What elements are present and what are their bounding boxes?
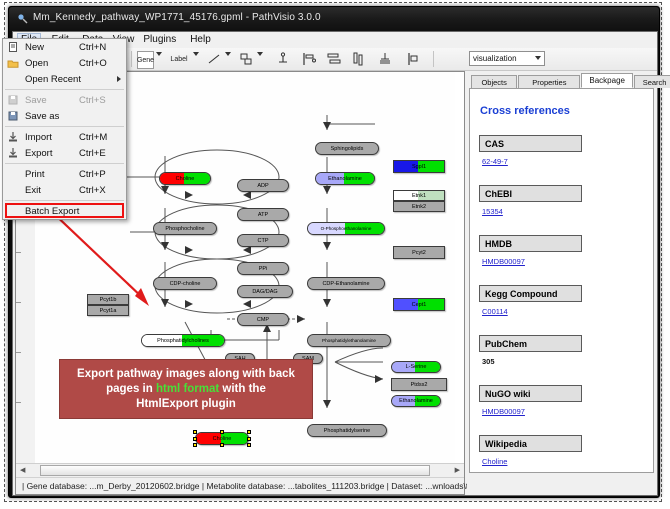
gene-tool-button[interactable]: Gene (137, 51, 154, 69)
file-menu-label: Print (25, 169, 45, 180)
visualization-value: visualization (473, 54, 517, 63)
group-icon[interactable] (405, 51, 421, 67)
side-panel-tabs: ObjectsPropertiesBackpageSearchLegend (467, 73, 657, 88)
scroll-right-icon[interactable]: ▶ (455, 466, 460, 474)
xref-value-kegg-compound[interactable]: C00114 (482, 307, 508, 316)
file-menu-item-export[interactable]: ExportCtrl+E (3, 145, 126, 161)
visualization-combobox[interactable]: visualization (469, 51, 545, 66)
file-menu-label: Open (25, 58, 48, 69)
file-menu-accelerator: Ctrl+S (79, 95, 106, 106)
export-icon (7, 147, 19, 159)
file-menu-item-exit[interactable]: ExitCtrl+X (3, 182, 126, 198)
file-menu-label: New (25, 42, 44, 53)
file-menu-label: Exit (25, 185, 41, 196)
file-menu-accelerator: Ctrl+P (79, 169, 106, 180)
annotation-highlight: html format (156, 383, 219, 395)
save-icon (7, 94, 19, 106)
menu-plugins[interactable]: Plugins (139, 34, 180, 46)
xref-value-chebi[interactable]: 15354 (482, 207, 503, 216)
xref-header-hmdb: HMDB (479, 235, 582, 252)
file-menu-item-save-as[interactable]: Save as (3, 108, 126, 124)
tab-objects[interactable]: Objects (471, 75, 517, 88)
file-menu-label: Export (25, 148, 52, 159)
file-menu-label: Save as (25, 111, 59, 122)
anchor-icon[interactable] (275, 51, 291, 67)
file-menu-accelerator: Ctrl+O (79, 58, 107, 69)
title-bar: Mm_Kennedy_pathway_WP1771_45176.gpml - P… (9, 7, 659, 31)
file-menu-accelerator: Ctrl+X (79, 185, 106, 196)
annotation-line2-after: with the (219, 383, 266, 395)
line-tool-icon[interactable] (206, 51, 222, 67)
file-menu-item-print[interactable]: PrintCtrl+P (3, 166, 126, 182)
annotation-line2-before: pages in (106, 383, 156, 395)
file-menu-accelerator: Ctrl+M (79, 132, 107, 143)
toolbar-separator (131, 51, 132, 67)
shape-tool-dropdown-icon[interactable] (257, 52, 263, 56)
shape-tool-icon[interactable] (238, 51, 254, 67)
stack-icon[interactable] (377, 51, 393, 67)
xref-header-nugo-wiki: NuGO wiki (479, 385, 582, 402)
xref-value-pubchem: 305 (482, 357, 495, 366)
window-title: Mm_Kennedy_pathway_WP1771_45176.gpml - P… (33, 12, 321, 23)
annotation-text: Export pathway images along with back pa… (71, 367, 301, 412)
align-vertical-icon[interactable] (351, 51, 367, 67)
tab-backpage[interactable]: Backpage (581, 73, 633, 88)
cross-references-heading: Cross references (480, 105, 570, 117)
xref-header-wikipedia: Wikipedia (479, 435, 582, 452)
import-icon (7, 131, 19, 143)
file-menu-dropdown[interactable]: NewCtrl+NOpenCtrl+OOpen RecentSaveCtrl+S… (2, 38, 127, 220)
file-menu-item-import[interactable]: ImportCtrl+M (3, 129, 126, 145)
xref-header-chebi: ChEBI (479, 185, 582, 202)
label-tool-dropdown-icon[interactable] (193, 52, 199, 56)
menu-separator (5, 200, 124, 201)
menu-separator (5, 163, 124, 164)
folder-open-icon (7, 57, 19, 69)
xref-value-nugo-wiki[interactable]: HMDB00097 (482, 407, 525, 416)
tab-search[interactable]: Search (634, 75, 670, 88)
new-file-icon (7, 41, 19, 53)
label-tool-button[interactable]: Label (168, 51, 190, 67)
file-menu-accelerator: Ctrl+E (79, 148, 106, 159)
backpage-content: Cross references CAS62-49-7ChEBI15354HMD… (469, 88, 654, 473)
label-tool-label: Label (170, 56, 187, 63)
toolbar-separator-2 (433, 51, 434, 67)
gene-tool-dropdown-icon[interactable] (156, 52, 162, 56)
file-menu-label: Import (25, 132, 52, 143)
submenu-arrow-icon (117, 76, 121, 82)
line-tool-dropdown-icon[interactable] (225, 52, 231, 56)
menu-separator (5, 89, 124, 90)
menu-separator (5, 126, 124, 127)
xref-value-cas[interactable]: 62-49-7 (482, 157, 508, 166)
annotation-line1: Export pathway images along with back (77, 368, 295, 380)
status-bar: | Gene database: ...m_Derby_20120602.bri… (16, 477, 464, 494)
file-menu-item-save: SaveCtrl+S (3, 92, 126, 108)
chevron-down-icon (535, 56, 541, 60)
batch-export-highlight (5, 203, 124, 218)
side-panel-scrollbar[interactable] (644, 88, 653, 473)
side-panel: ObjectsPropertiesBackpageSearchLegend Cr… (467, 71, 657, 495)
pathvisio-icon (17, 13, 29, 25)
menu-help[interactable]: Help (186, 34, 215, 46)
scroll-left-icon[interactable]: ◀ (20, 466, 25, 474)
save-as-icon (7, 110, 19, 122)
file-menu-item-open-recent[interactable]: Open Recent (3, 71, 126, 87)
file-menu-item-new[interactable]: NewCtrl+N (3, 39, 126, 55)
file-menu-accelerator: Ctrl+N (79, 42, 106, 53)
status-bar-text: | Gene database: ...m_Derby_20120602.bri… (22, 481, 527, 491)
xref-header-kegg-compound: Kegg Compound (479, 285, 582, 302)
tab-properties[interactable]: Properties (518, 75, 580, 88)
file-menu-item-batch-export[interactable]: Batch Export (3, 203, 126, 219)
align-horizontal-icon[interactable] (326, 51, 342, 67)
annotation-callout: Export pathway images along with back pa… (59, 359, 313, 419)
xref-header-pubchem: PubChem (479, 335, 582, 352)
align-left-icon[interactable] (301, 51, 317, 67)
gene-tool-label: Gene (137, 57, 154, 64)
xref-value-wikipedia[interactable]: Choline (482, 457, 507, 466)
xref-header-cas: CAS (479, 135, 582, 152)
xref-value-hmdb[interactable]: HMDB00097 (482, 257, 525, 266)
file-menu-label: Open Recent (25, 74, 81, 85)
file-menu-label: Save (25, 95, 47, 106)
file-menu-item-open[interactable]: OpenCtrl+O (3, 55, 126, 71)
annotation-line3: HtmlExport plugin (136, 398, 236, 410)
